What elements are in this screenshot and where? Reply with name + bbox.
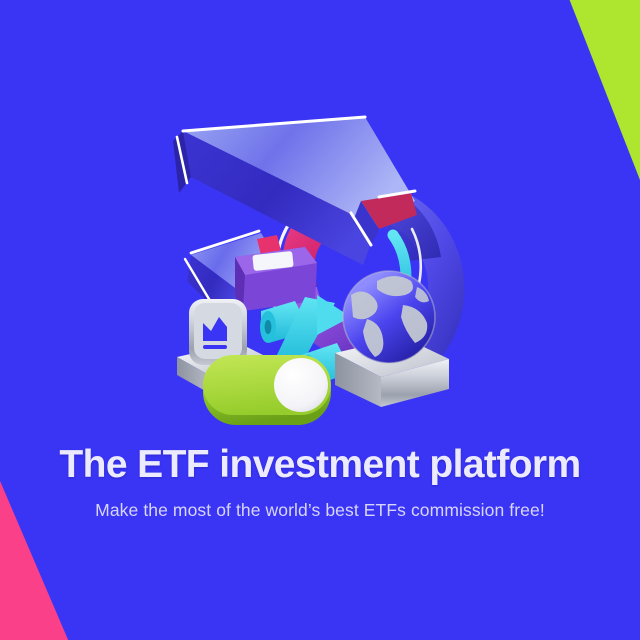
page-subtitle: Make the most of the world’s best ETFs c… xyxy=(0,500,640,521)
text-block: The ETF investment platform Make the mos… xyxy=(0,443,640,521)
toggle-switch[interactable] xyxy=(203,355,331,425)
top-right-green-wedge xyxy=(530,0,640,180)
toggle-knob[interactable] xyxy=(274,358,328,412)
etf-investment-3d-illustration xyxy=(165,105,475,435)
globe-icon xyxy=(343,271,435,363)
page-title: The ETF investment platform xyxy=(0,443,640,487)
promo-banner: The ETF investment platform Make the mos… xyxy=(0,0,640,640)
